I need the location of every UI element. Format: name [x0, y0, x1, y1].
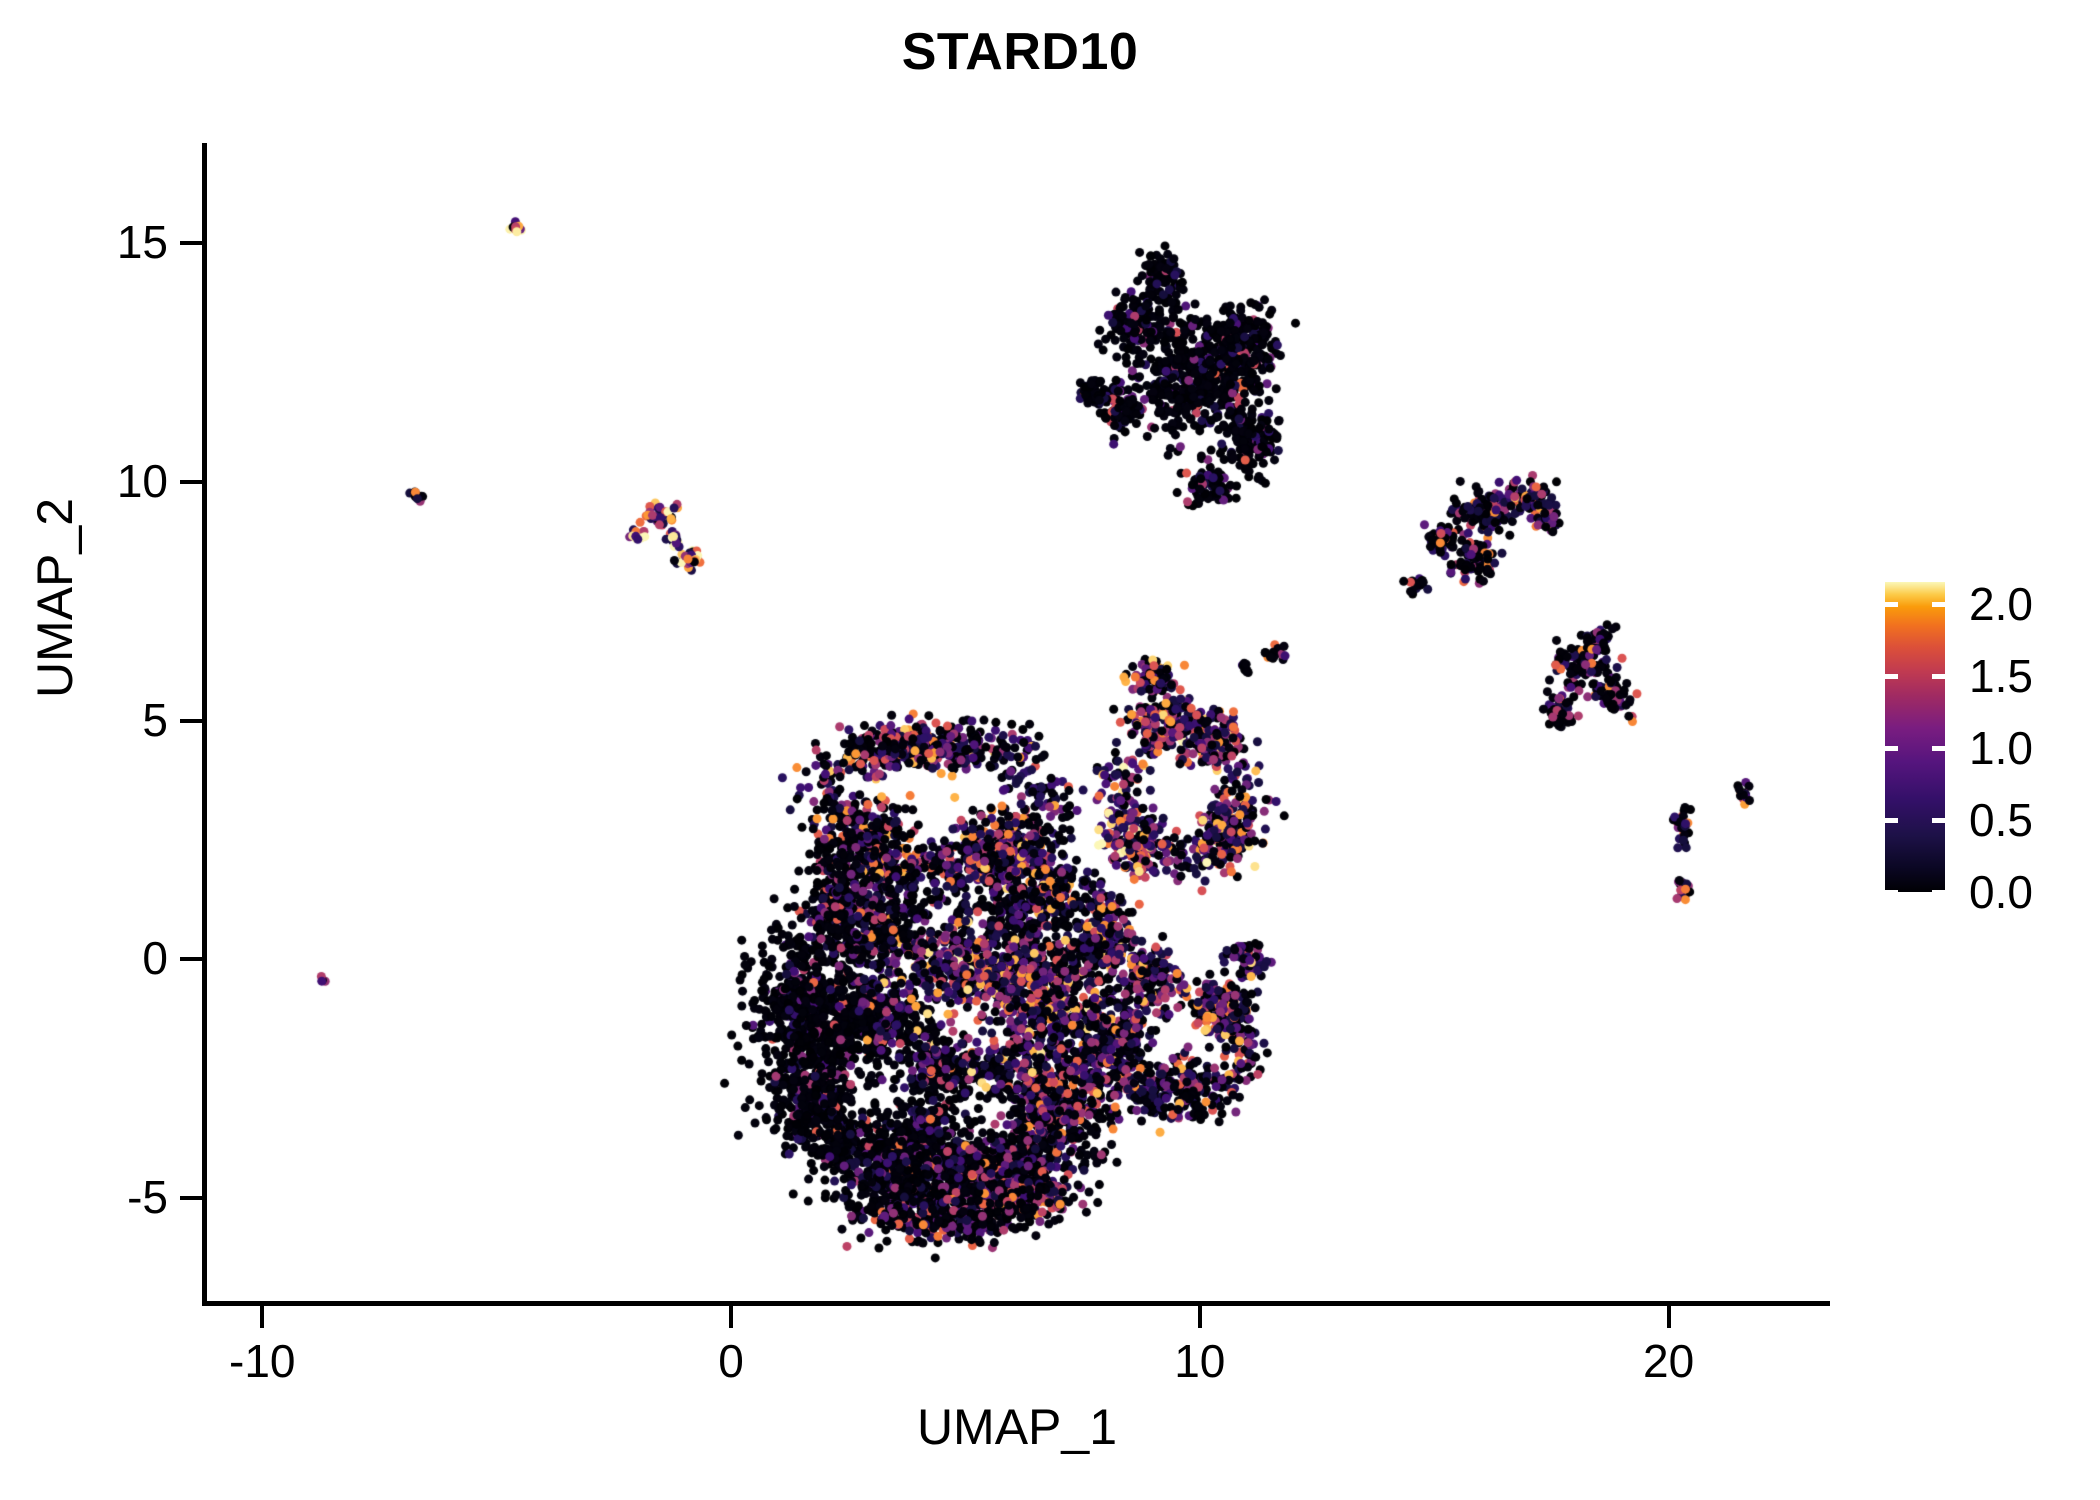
y-tick-mark — [180, 241, 202, 245]
colorbar-tick-mark — [1885, 602, 1898, 607]
x-tick-label: 10 — [1100, 1334, 1300, 1388]
x-tick-label: 20 — [1569, 1334, 1769, 1388]
colorbar-tick-mark — [1885, 890, 1898, 895]
y-axis-label-wrapper: UMAP_2 — [25, 288, 85, 908]
colorbar-gradient — [1885, 582, 1945, 892]
x-tick-label: -10 — [162, 1334, 362, 1388]
colorbar-tick-mark — [1932, 602, 1945, 607]
y-tick-mark — [180, 719, 202, 723]
plot-panel — [206, 143, 1828, 1303]
colorbar-tick-label: 1.5 — [1969, 649, 2033, 703]
y-tick-mark — [180, 957, 202, 961]
colorbar-tick-mark — [1932, 674, 1945, 679]
colorbar-tick-label: 0.0 — [1969, 865, 2033, 919]
page-title: STARD10 — [0, 22, 2040, 82]
x-tick-mark — [260, 1306, 264, 1328]
scatter-points-layer — [206, 143, 1828, 1303]
colorbar-legend: 0.00.51.01.52.0 — [1885, 582, 2085, 912]
y-tick-label: 15 — [0, 215, 168, 269]
x-tick-label: 0 — [631, 1334, 831, 1388]
colorbar-tick-mark — [1885, 746, 1898, 751]
colorbar-tick-label: 0.5 — [1969, 793, 2033, 847]
x-axis-label: UMAP_1 — [206, 1398, 1828, 1456]
y-tick-mark — [180, 1196, 202, 1200]
y-tick-label: 0 — [0, 931, 168, 985]
x-tick-mark — [729, 1306, 733, 1328]
y-tick-label: -5 — [0, 1170, 168, 1224]
colorbar-tick-label: 1.0 — [1969, 721, 2033, 775]
chart-root: STARD10 -1001020 -5051015 UMAP_1 UMAP_2 … — [0, 0, 2100, 1500]
colorbar-tick-mark — [1885, 818, 1898, 823]
x-tick-mark — [1198, 1306, 1202, 1328]
y-tick-mark — [180, 480, 202, 484]
colorbar-tick-mark — [1932, 890, 1945, 895]
colorbar-tick-mark — [1885, 674, 1898, 679]
x-tick-mark — [1667, 1306, 1671, 1328]
colorbar-tick-mark — [1932, 746, 1945, 751]
y-axis-label: UMAP_2 — [26, 498, 84, 698]
colorbar-tick-label: 2.0 — [1969, 577, 2033, 631]
colorbar-tick-mark — [1932, 818, 1945, 823]
